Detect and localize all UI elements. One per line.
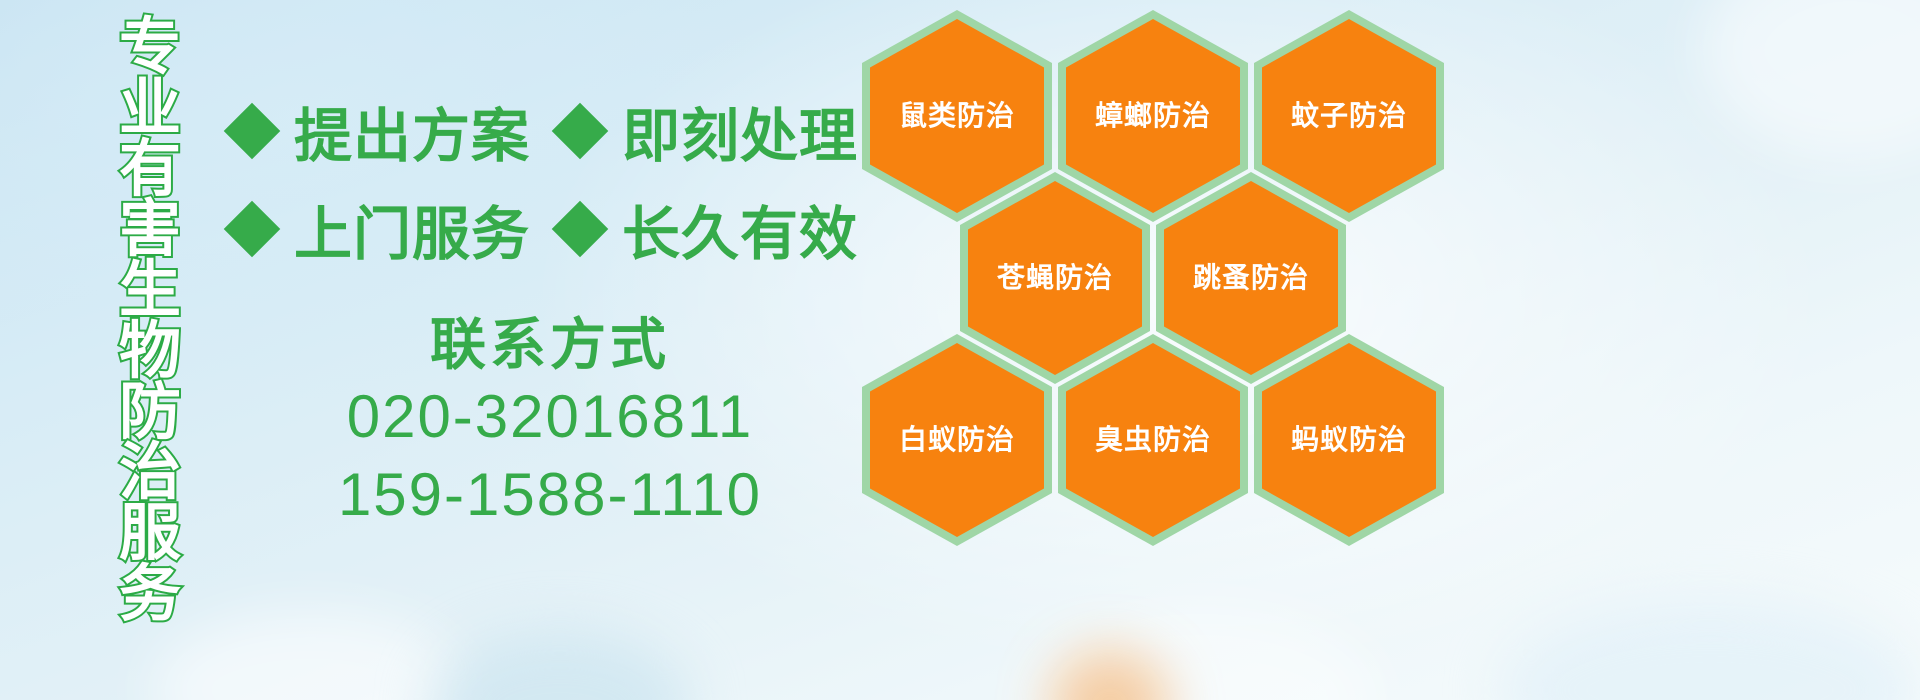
vertical-title-char: 物	[119, 322, 181, 383]
feature-item: 提出方案	[232, 89, 530, 173]
hexagon-inner: 蚂蚁防治	[1262, 343, 1436, 537]
vertical-title-char: 业	[119, 79, 181, 140]
service-label: 苍蝇防治	[997, 263, 1113, 294]
vertical-title-char: 防	[119, 383, 181, 444]
feature-list: 提出方案 即刻处理 上门服务 长久有效	[232, 82, 872, 278]
feature-row: 提出方案 即刻处理	[232, 82, 872, 180]
service-hexagon-grid: 鼠类防治 蟑螂防治 蚊子防治 苍蝇防治 跳蚤防治 白蚁防治	[862, 2, 1462, 562]
service-label: 跳蚤防治	[1193, 263, 1309, 294]
contact-block: 联系方式 020-32016811 159-1588-1110	[240, 312, 860, 534]
feature-label: 长久有效	[622, 187, 858, 271]
diamond-icon	[552, 201, 609, 258]
feature-item: 上门服务	[232, 187, 530, 271]
vertical-title-char: 生	[119, 261, 181, 322]
hexagon-inner: 鼠类防治	[870, 19, 1044, 213]
contact-phone-mobile[interactable]: 159-1588-1110	[240, 456, 860, 534]
background-bokeh-blob	[1700, 0, 1920, 160]
vertical-title-char: 治	[119, 443, 181, 504]
feature-item: 长久有效	[560, 187, 858, 271]
feature-row: 上门服务 长久有效	[232, 180, 872, 278]
feature-label: 即刻处理	[622, 89, 858, 173]
background-bokeh-blob	[1020, 610, 1380, 700]
feature-item: 即刻处理	[560, 89, 858, 173]
service-label: 鼠类防治	[899, 101, 1015, 132]
service-label: 蟑螂防治	[1095, 101, 1211, 132]
diamond-icon	[552, 103, 609, 160]
diamond-icon	[224, 103, 281, 160]
hexagon-inner: 跳蚤防治	[1164, 181, 1338, 375]
contact-title: 联系方式	[240, 312, 860, 378]
hexagon-inner: 臭虫防治	[1066, 343, 1240, 537]
feature-label: 上门服务	[294, 187, 530, 271]
service-label: 白蚁防治	[899, 425, 1015, 456]
hexagon-inner: 蚊子防治	[1262, 19, 1436, 213]
background-bokeh-blob	[150, 610, 470, 700]
background-bokeh-blob	[1500, 600, 1920, 700]
vertical-title-char: 务	[119, 565, 181, 626]
service-label: 蚂蚁防治	[1291, 425, 1407, 456]
pest-control-banner: 专 业 有 害 生 物 防 治 服 务 提出方案 即刻处理 上门服务	[0, 0, 1920, 700]
hexagon-inner: 白蚁防治	[870, 343, 1044, 537]
vertical-title-char: 服	[119, 504, 181, 565]
vertical-title-char: 害	[119, 200, 181, 261]
hexagon-inner: 苍蝇防治	[968, 181, 1142, 375]
vertical-title-char: 有	[119, 140, 181, 201]
hexagon-inner: 蟑螂防治	[1066, 19, 1240, 213]
service-label: 蚊子防治	[1291, 101, 1407, 132]
diamond-icon	[224, 201, 281, 258]
background-bokeh-blob	[430, 630, 690, 700]
vertical-title-char: 专	[119, 18, 181, 79]
background-bokeh-blob	[1050, 650, 1170, 700]
vertical-title: 专 业 有 害 生 物 防 治 服 务	[104, 18, 196, 626]
contact-phone-landline[interactable]: 020-32016811	[240, 378, 860, 456]
feature-label: 提出方案	[294, 89, 530, 173]
service-label: 臭虫防治	[1095, 425, 1211, 456]
